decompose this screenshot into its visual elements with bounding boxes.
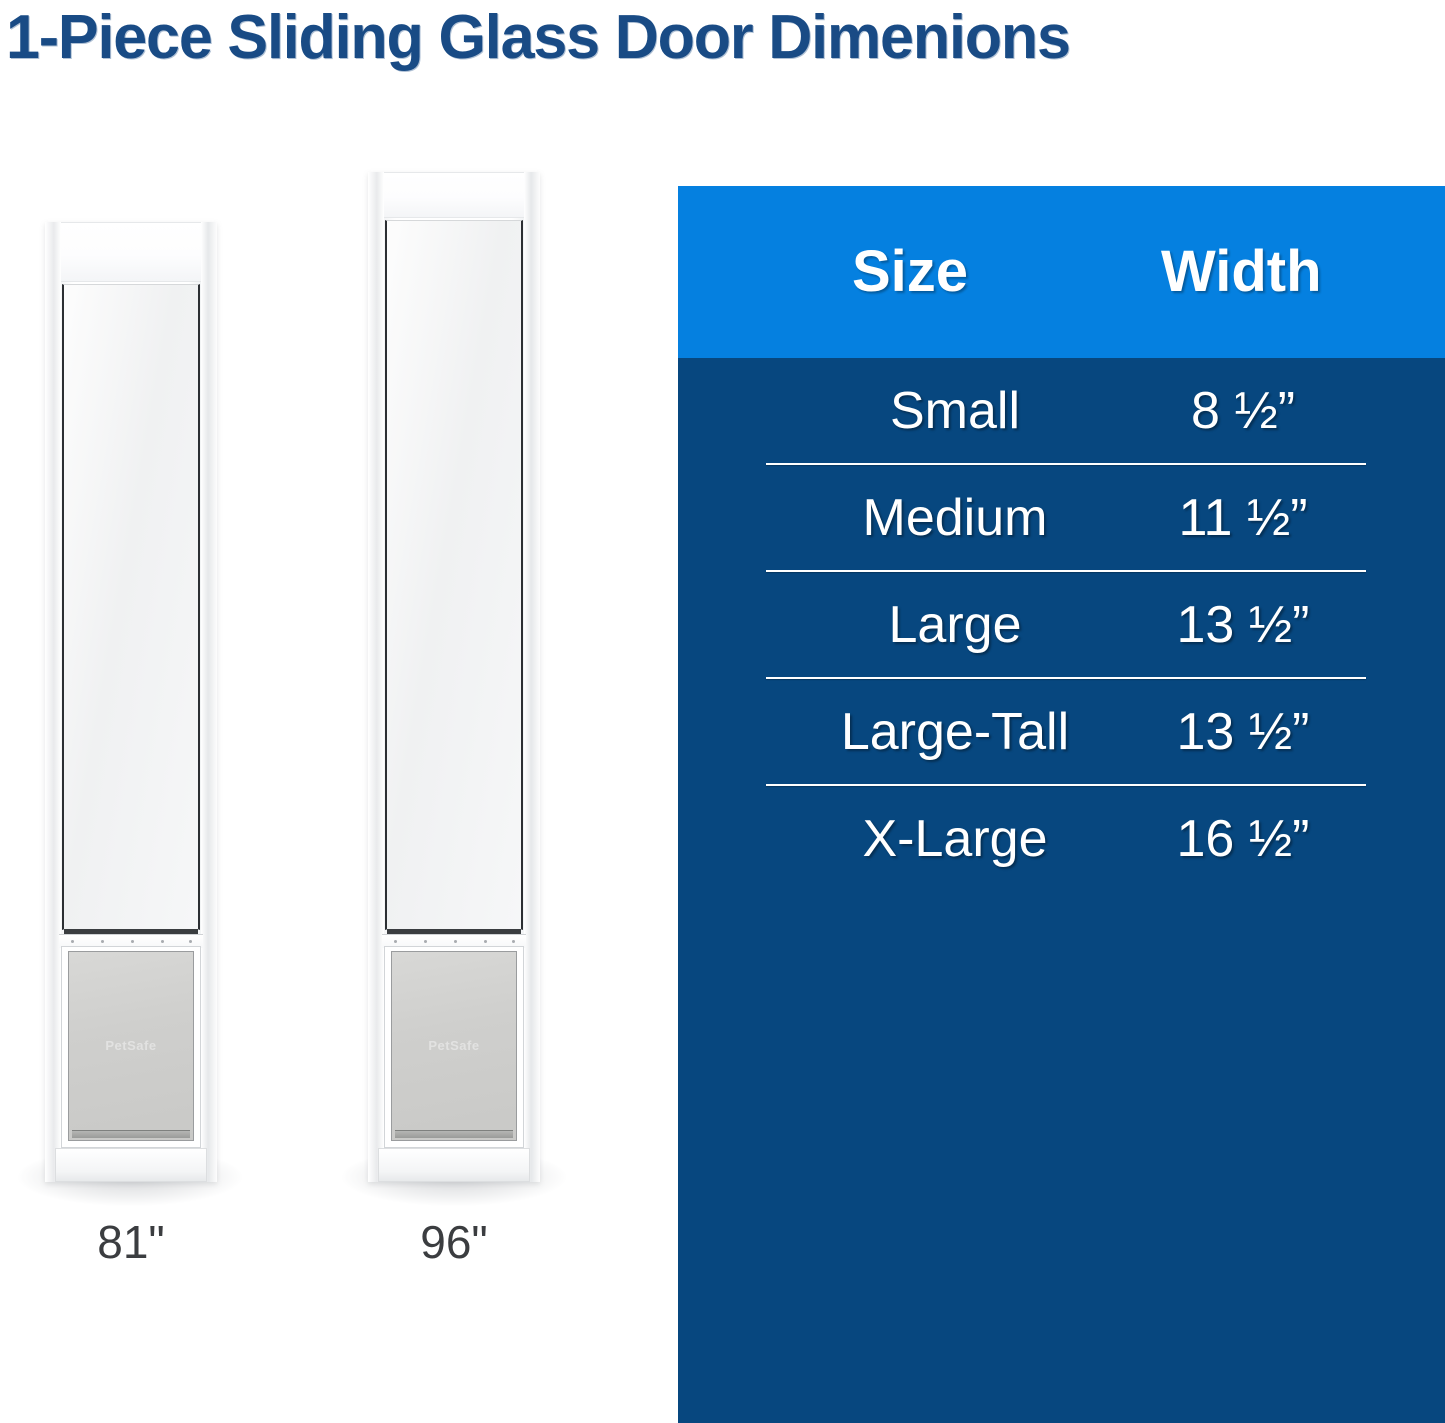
flap-screw: [71, 940, 74, 943]
cell-size: Small: [790, 358, 1120, 465]
door-glass-panel: [385, 220, 523, 930]
door-glass-panel: [62, 284, 200, 930]
flap-screw: [484, 940, 487, 943]
dimensions-infographic: 1-Piece Sliding Glass Door Dimenions Pet…: [0, 0, 1445, 1423]
table-row: Large 13 ½”: [678, 572, 1445, 679]
flap-brand-watermark: PetSafe: [69, 1038, 193, 1053]
cell-width: 13 ½”: [1128, 572, 1358, 679]
flap-screw: [454, 940, 457, 943]
column-header-width: Width: [1161, 186, 1322, 358]
cell-width: 16 ½”: [1128, 786, 1358, 893]
door-bottom-base: [55, 1148, 207, 1182]
flap-screw: [394, 940, 397, 943]
door-panel-96: PetSafe: [368, 172, 540, 1182]
flap-screw: [512, 940, 515, 943]
cell-size: Large: [790, 572, 1120, 679]
door-caption-81: 81": [45, 1215, 217, 1269]
door-panel-81: PetSafe: [45, 222, 217, 1182]
door-bottom-base: [378, 1148, 530, 1182]
flap-brand-watermark: PetSafe: [392, 1038, 516, 1053]
table-row: X-Large 16 ½”: [678, 786, 1445, 893]
cell-size: Large-Tall: [790, 679, 1120, 786]
table-header-row: Size Width: [678, 186, 1445, 358]
flap-screw: [161, 940, 164, 943]
flap-bottom-bar: [395, 1130, 513, 1138]
flap-housing: PetSafe: [61, 946, 201, 1148]
flap-screw: [131, 940, 134, 943]
cell-width: 11 ½”: [1128, 465, 1358, 572]
table-row: Small 8 ½”: [678, 358, 1445, 465]
flap-screw: [189, 940, 192, 943]
door-caption-96: 96": [368, 1215, 540, 1269]
pet-flap: PetSafe: [68, 951, 194, 1141]
table-body: Small 8 ½” Medium 11 ½” Large 13 ½” Larg…: [678, 358, 1445, 893]
pet-flap: PetSafe: [391, 951, 517, 1141]
column-header-size: Size: [852, 186, 968, 358]
flap-bottom-bar: [72, 1130, 190, 1138]
flap-screw: [424, 940, 427, 943]
page-title: 1-Piece Sliding Glass Door Dimenions: [6, 0, 1385, 78]
cell-width: 8 ½”: [1128, 358, 1358, 465]
cell-width: 13 ½”: [1128, 679, 1358, 786]
cell-size: X-Large: [790, 786, 1120, 893]
flap-screw: [101, 940, 104, 943]
cell-size: Medium: [790, 465, 1120, 572]
flap-housing: PetSafe: [384, 946, 524, 1148]
door-top-cap: [45, 222, 217, 282]
table-row: Medium 11 ½”: [678, 465, 1445, 572]
door-top-cap: [368, 172, 540, 218]
dimensions-table-panel: Size Width Small 8 ½” Medium 11 ½” Large…: [678, 186, 1445, 1423]
table-row: Large-Tall 13 ½”: [678, 679, 1445, 786]
